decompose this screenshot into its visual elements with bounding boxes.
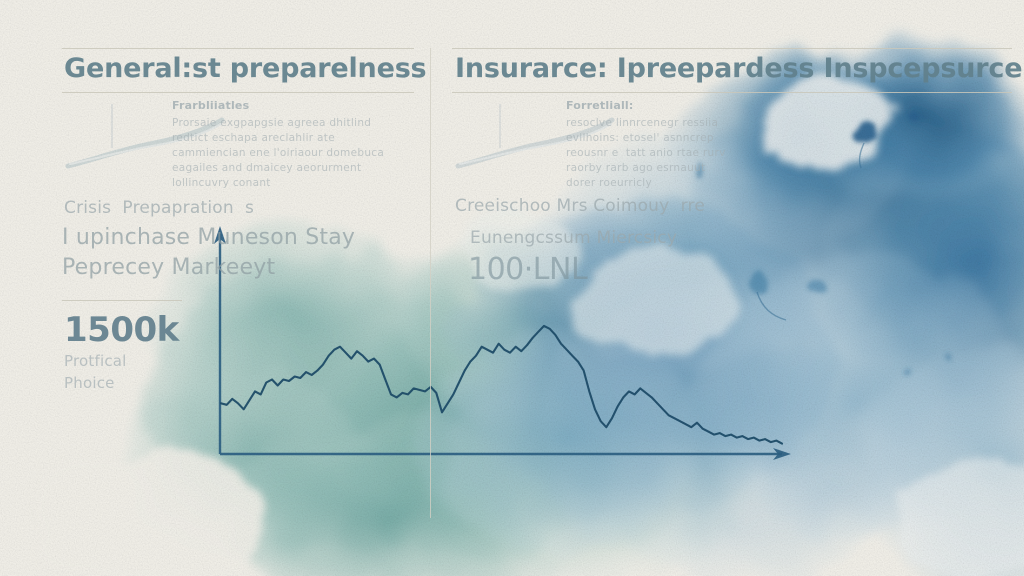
left-mid-line-3: Peprecey Markeeyt bbox=[62, 255, 275, 280]
right-body-line-1: resoclve linnrcenegr ressiia bbox=[566, 117, 718, 129]
left-body-line-4: eagailes and dmaicey aeorurment bbox=[172, 162, 361, 174]
right-body-line-5: dorer roeurricly bbox=[566, 177, 652, 189]
left-metric-value: 1500k bbox=[64, 310, 179, 350]
column-divider bbox=[430, 48, 431, 518]
right-body-line-3: reousnr e tatt anio rtae rurv bbox=[566, 147, 726, 159]
left-mid-line-1: Crisis Prepapration s bbox=[64, 198, 254, 218]
watercolor-infographic-canvas: General:st preparelness Frarbliiatles Pr… bbox=[0, 0, 1024, 576]
right-metric-value: 100·LNL bbox=[468, 252, 587, 287]
watercolor-artwork bbox=[0, 0, 1024, 576]
left-column-header: General:st preparelness bbox=[64, 53, 426, 84]
left-section-label: Frarbliiatles bbox=[172, 99, 249, 112]
left-mid-line-2: I upinchase Muneson Stay bbox=[62, 225, 355, 250]
left-metric-caption-1: Protfical bbox=[64, 352, 127, 370]
left-header-bottom-rule bbox=[62, 92, 414, 93]
metric-top-rule bbox=[62, 300, 182, 301]
left-body-line-2: redtict eschapa areclahlir ate bbox=[172, 132, 335, 144]
right-mid-line-2: Eunengcssum Miercsicy bbox=[470, 228, 677, 248]
right-column-header: Insurarce: Ipreepardess Inspcepsurce·ss bbox=[455, 53, 1024, 84]
right-header-top-rule bbox=[452, 48, 1012, 49]
left-body-line-3: cammiencian ene l'oiriaour domebuca bbox=[172, 147, 384, 159]
right-body-line-4: raorby rarb ago esrnauut bbox=[566, 162, 705, 174]
left-metric-caption-2: Phoice bbox=[64, 374, 115, 392]
right-section-label: Forretliall: bbox=[566, 99, 634, 112]
left-body-line-1: Prorsaie exgpapgsie agreea dhitlind bbox=[172, 117, 371, 129]
right-body-line-2: evllhoins: etosel' asnncrep bbox=[566, 132, 714, 144]
left-body-line-5: lollincuvry conant bbox=[172, 177, 271, 189]
left-header-top-rule bbox=[62, 48, 414, 49]
right-mid-line-1: Creeischoo Mrs Coimouy rre bbox=[455, 196, 705, 216]
right-header-bottom-rule bbox=[452, 92, 1012, 93]
